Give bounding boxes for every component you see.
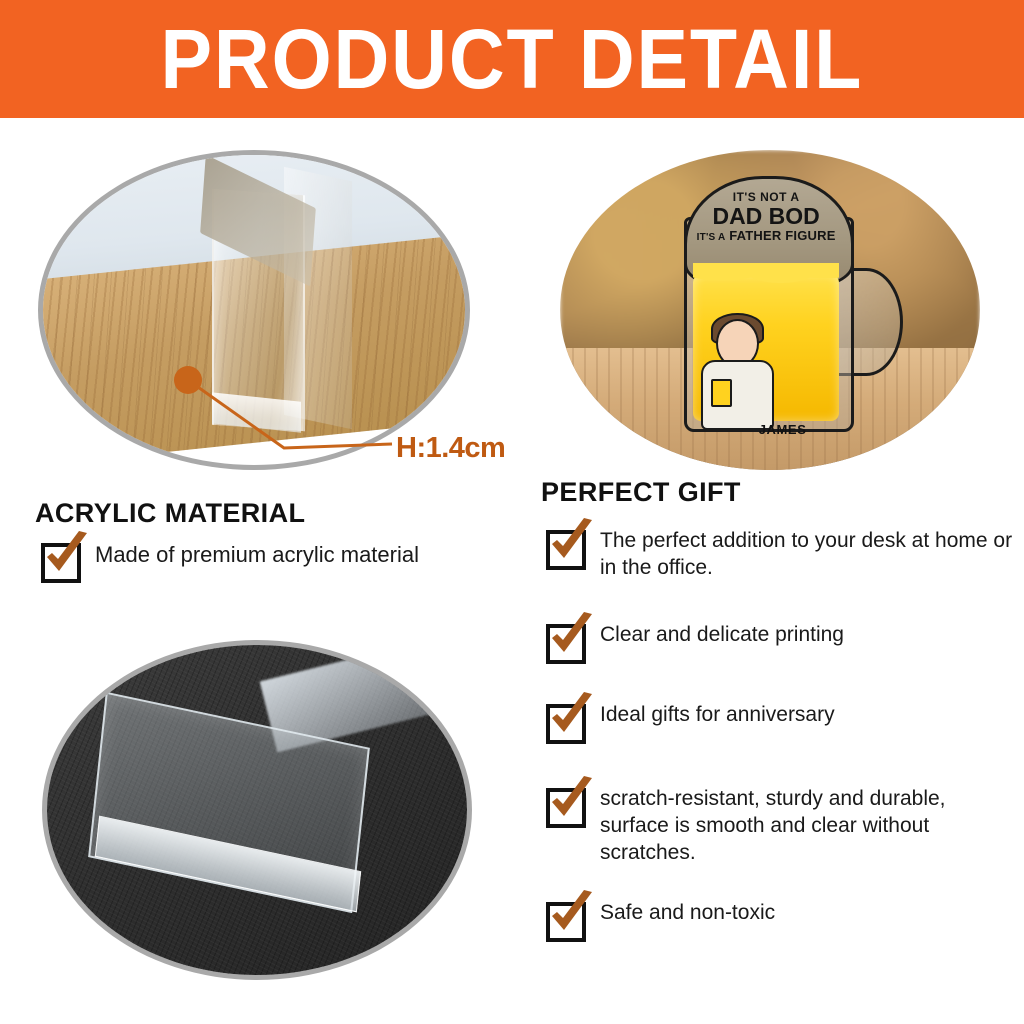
feature-item: Clear and delicate printing bbox=[546, 622, 844, 664]
feature-text: Clear and delicate printing bbox=[600, 622, 844, 649]
plaque-line-3-big: FATHER FIGURE bbox=[729, 228, 835, 243]
feature-text: scratch-resistant, sturdy and durable, s… bbox=[600, 786, 1020, 867]
feature-text: Ideal gifts for anniversary bbox=[600, 702, 835, 729]
check-glyph bbox=[39, 529, 93, 583]
checkmark-icon bbox=[41, 543, 81, 583]
acrylic-block-flat-photo bbox=[42, 640, 472, 980]
feature-item: Made of premium acrylic material bbox=[41, 541, 419, 583]
checkmark-icon bbox=[546, 902, 586, 942]
check-glyph bbox=[544, 610, 598, 664]
header-banner: PRODUCT DETAIL bbox=[0, 0, 1024, 118]
dad-character bbox=[698, 319, 773, 427]
product-detail-page: PRODUCT DETAIL H:1.4cm IT'S NOT A DAD BO… bbox=[0, 0, 1024, 1024]
feature-text: Made of premium acrylic material bbox=[95, 541, 419, 569]
plaque-line-2: DAD BOD bbox=[689, 204, 844, 229]
acrylic-block-edge-photo bbox=[38, 150, 470, 470]
feature-text: The perfect addition to your desk at hom… bbox=[600, 528, 1020, 582]
checkmark-icon bbox=[546, 704, 586, 744]
beer-drip bbox=[693, 263, 839, 304]
feature-item: Safe and non-toxic bbox=[546, 900, 775, 942]
personalized-name: JAMES bbox=[721, 422, 843, 437]
check-glyph bbox=[544, 888, 598, 942]
beer-mug-plaque-photo: IT'S NOT A DAD BOD IT'S A FATHER FIGURE … bbox=[560, 150, 980, 470]
acrylic-section-title: ACRYLIC MATERIAL bbox=[35, 498, 305, 529]
page-title: PRODUCT DETAIL bbox=[161, 17, 864, 101]
plaque-line-3-small: IT'S A bbox=[697, 232, 726, 243]
check-glyph bbox=[544, 516, 598, 570]
acrylic-plaque: IT'S NOT A DAD BOD IT'S A FATHER FIGURE … bbox=[665, 176, 900, 432]
plaque-line-3: IT'S A FATHER FIGURE bbox=[689, 229, 844, 244]
checkmark-icon bbox=[546, 624, 586, 664]
check-glyph bbox=[544, 774, 598, 828]
feature-item: scratch-resistant, sturdy and durable, s… bbox=[546, 786, 1020, 867]
character-beer-glass bbox=[711, 379, 732, 407]
checkmark-icon bbox=[546, 530, 586, 570]
callout-label: H:1.4cm bbox=[396, 432, 505, 465]
plaque-text: IT'S NOT A DAD BOD IT'S A FATHER FIGURE bbox=[689, 191, 844, 244]
feature-item: Ideal gifts for anniversary bbox=[546, 702, 835, 744]
gift-section-title: PERFECT GIFT bbox=[541, 477, 741, 508]
feature-item: The perfect addition to your desk at hom… bbox=[546, 528, 1020, 582]
check-glyph bbox=[544, 690, 598, 744]
plaque-line-1: IT'S NOT A bbox=[689, 191, 844, 204]
feature-text: Safe and non-toxic bbox=[600, 900, 775, 927]
checkmark-icon bbox=[546, 788, 586, 828]
